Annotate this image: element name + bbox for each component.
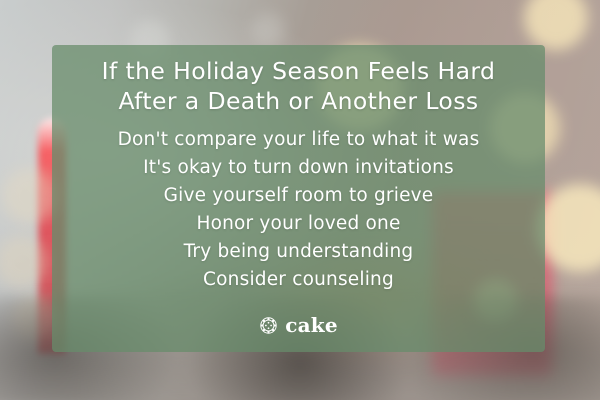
tip-item: Give yourself room to grieve (118, 182, 480, 210)
tip-item: Don't compare your life to what it was (118, 126, 480, 154)
share-graphic: If the Holiday Season Feels Hard After a… (0, 0, 600, 400)
tip-item: It's okay to turn down invitations (118, 154, 480, 182)
cake-wreath-icon (259, 316, 278, 335)
title-line-1: If the Holiday Season Feels Hard (102, 56, 496, 86)
page-title: If the Holiday Season Feels Hard After a… (102, 56, 496, 116)
brand-logo: cake (52, 315, 545, 335)
content-card: If the Holiday Season Feels Hard After a… (52, 45, 545, 352)
tips-list: Don't compare your life to what it was I… (118, 126, 480, 294)
logo-wordmark: cake (285, 315, 338, 335)
bokeh-light (2, 168, 58, 224)
tip-item: Try being understanding (118, 238, 480, 266)
bokeh-light (251, 13, 285, 47)
tip-item: Honor your loved one (118, 210, 480, 238)
title-line-2: After a Death or Another Loss (102, 86, 496, 116)
tip-item: Consider counseling (118, 266, 480, 294)
